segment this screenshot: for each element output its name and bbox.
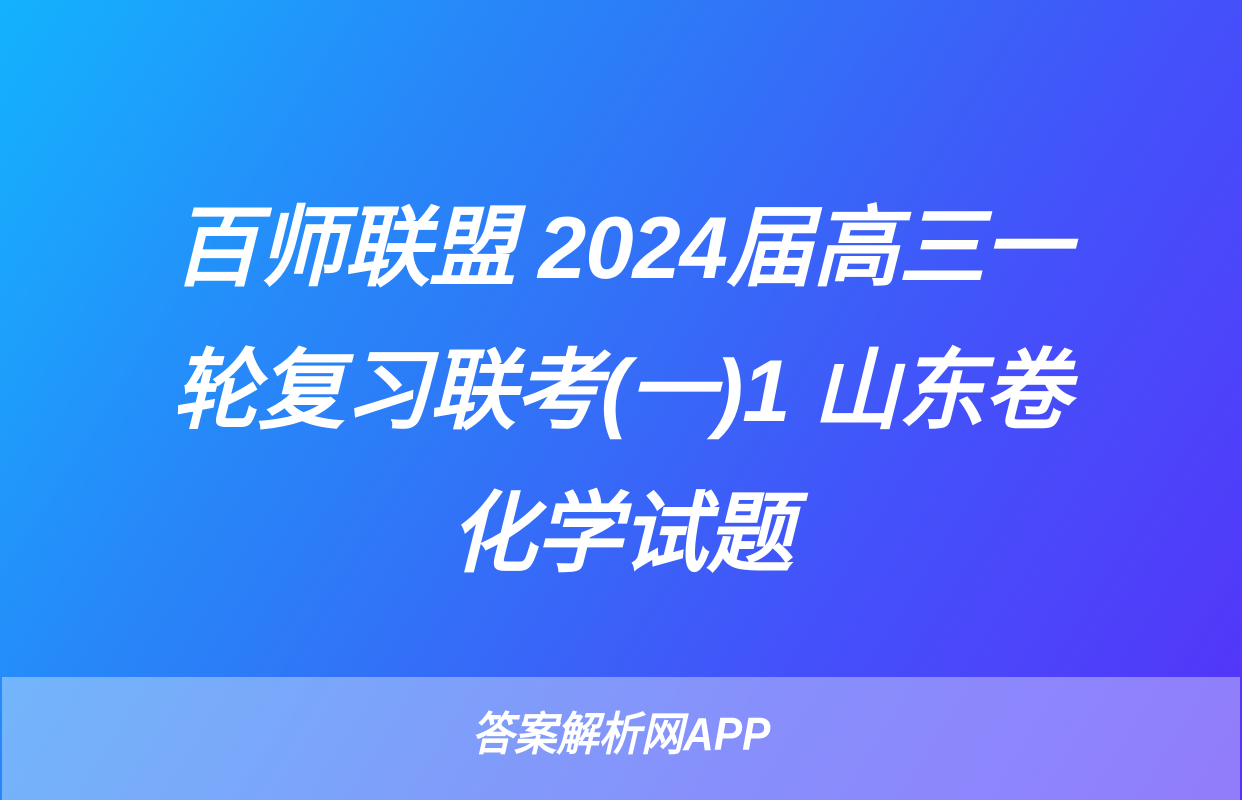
title-line-3: 化学试题 [55,462,1188,605]
promo-card: 百师联盟 2024届高三一 轮复习联考(一)1 山东卷 化学试题 答案解析网AP… [0,0,1242,800]
page-title: 百师联盟 2024届高三一 轮复习联考(一)1 山东卷 化学试题 [0,176,1242,605]
title-line-2: 轮复习联考(一)1 山东卷 [55,319,1188,462]
title-line-1: 百师联盟 2024届高三一 [55,176,1188,319]
watermark-band: 答案解析网APP [2,677,1240,800]
watermark-label: 答案解析网APP [52,709,1191,759]
